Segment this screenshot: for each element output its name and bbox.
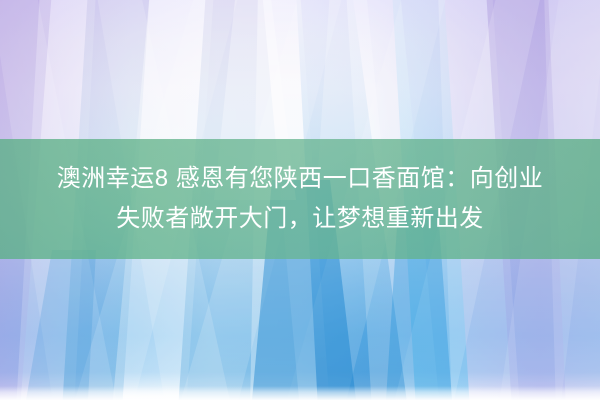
promo-banner: 澳洲幸运8 感恩有您陕西一口香面馆：向创业 失败者敞开大门，让梦想重新出发 (0, 0, 600, 400)
headline-line-1: 澳洲幸运8 感恩有您陕西一口香面馆：向创业 (57, 159, 544, 199)
bottom-white-fade (0, 386, 600, 400)
headline-line-2: 失败者敞开大门，让梦想重新出发 (116, 199, 484, 239)
headline-text: 澳洲幸运8 感恩有您陕西一口香面馆：向创业 失败者敞开大门，让梦想重新出发 (0, 139, 600, 259)
